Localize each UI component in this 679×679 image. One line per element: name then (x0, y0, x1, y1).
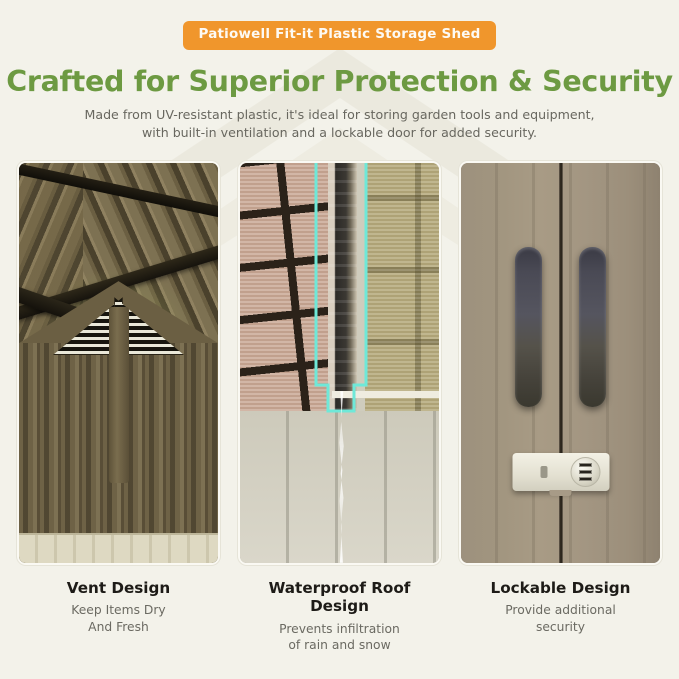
subtitle-line-1: Made from UV-resistant plastic, it's ide… (70, 106, 610, 125)
caption-subtitle: Provide additional security (491, 602, 631, 636)
caption-title: Lockable Design (491, 579, 631, 597)
caption-lockable: Lockable Design Provide additional secur… (491, 579, 631, 636)
caption-vent: Vent Design Keep Items Dry And Fresh (67, 579, 170, 636)
caption-title: Vent Design (67, 579, 170, 597)
roof-seam-water-illustration (240, 163, 439, 563)
subtitle-line-2: with built-in ventilation and a lockable… (70, 124, 610, 143)
door-handle-left-icon (515, 247, 542, 407)
caption-title: Waterproof Roof Design (238, 579, 441, 615)
caption-subtitle-line-1: Provide additional (491, 602, 631, 619)
shed-interior-roof-illustration (19, 163, 218, 563)
feature-image-waterproof-roof (238, 161, 441, 565)
combination-dial-icon (570, 457, 600, 487)
caption-subtitle-line-2: of rain and snow (238, 637, 441, 654)
caption-subtitle-line-1: Prevents infiltration (238, 621, 441, 638)
feature-image-vent (17, 161, 220, 565)
feature-card-vent: Vent Design Keep Items Dry And Fresh (17, 161, 220, 654)
feature-image-lockable (459, 161, 662, 565)
product-badge: Patiowell Fit-it Plastic Storage Shed (183, 21, 495, 50)
combination-lock-hasp-icon (512, 453, 609, 491)
page-title: Crafted for Superior Protection & Securi… (0, 66, 679, 97)
caption-subtitle: Prevents infiltration of rain and snow (238, 621, 441, 655)
page-subtitle: Made from UV-resistant plastic, it's ide… (70, 106, 610, 143)
feature-card-waterproof-roof: Waterproof Roof Design Prevents infiltra… (238, 161, 441, 654)
caption-subtitle: Keep Items Dry And Fresh (67, 602, 170, 636)
page-header: Patiowell Fit-it Plastic Storage Shed Cr… (0, 0, 679, 143)
seam-highlight-outline (240, 163, 439, 563)
caption-subtitle-line-2: And Fresh (67, 619, 170, 636)
shed-doors-lock-illustration (461, 163, 660, 563)
caption-subtitle-line-2: security (491, 619, 631, 636)
caption-subtitle-line-1: Keep Items Dry (67, 602, 170, 619)
feature-panels: Vent Design Keep Items Dry And Fresh (0, 161, 679, 654)
door-handle-right-icon (579, 247, 606, 407)
caption-waterproof-roof: Waterproof Roof Design Prevents infiltra… (238, 579, 441, 654)
feature-card-lockable: Lockable Design Provide additional secur… (459, 161, 662, 654)
